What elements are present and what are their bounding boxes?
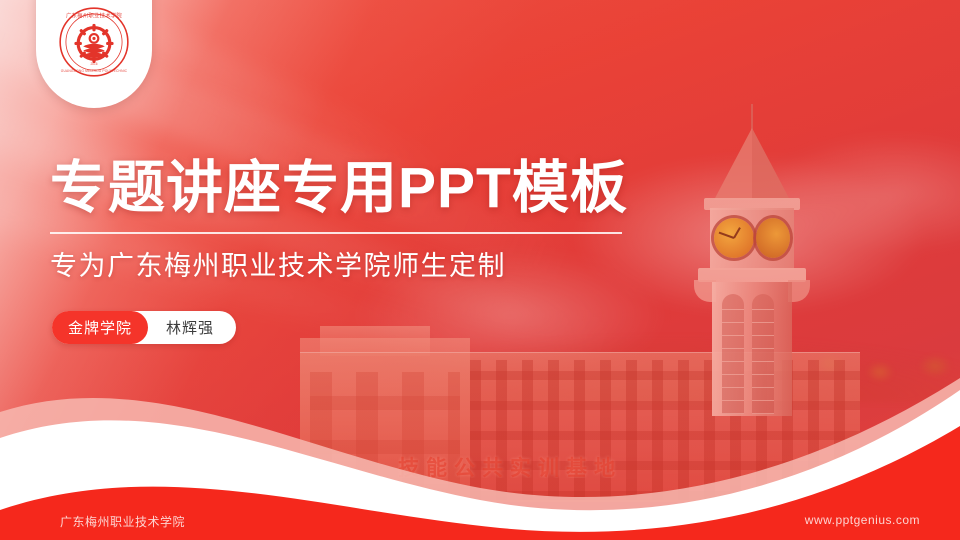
badge-presenter-name[interactable]: 林辉强	[148, 311, 236, 344]
credits-badge-group[interactable]: 金牌学院 林辉强	[52, 311, 236, 344]
presentation-slide: 技能公共实训基地	[0, 0, 960, 540]
title-divider	[50, 232, 622, 234]
slide-title: 专题讲座专用PPT模板	[50, 158, 628, 220]
slide-subtitle: 专为广东梅州职业技术学院师生定制	[50, 244, 506, 283]
footer-website-url[interactable]: www.pptgenius.com	[805, 513, 920, 527]
logo-year: 2016	[90, 62, 97, 66]
university-logo-icon: 广东梅州职业技术学院 GUANGDONG MEIZHOU POLYTECHNIC…	[58, 6, 130, 78]
logo-ring-text-en: GUANGDONG MEIZHOU POLYTECHNIC	[61, 69, 128, 73]
badge-institution[interactable]: 金牌学院	[52, 311, 148, 344]
footer-university-name: 广东梅州职业技术学院	[60, 513, 185, 530]
